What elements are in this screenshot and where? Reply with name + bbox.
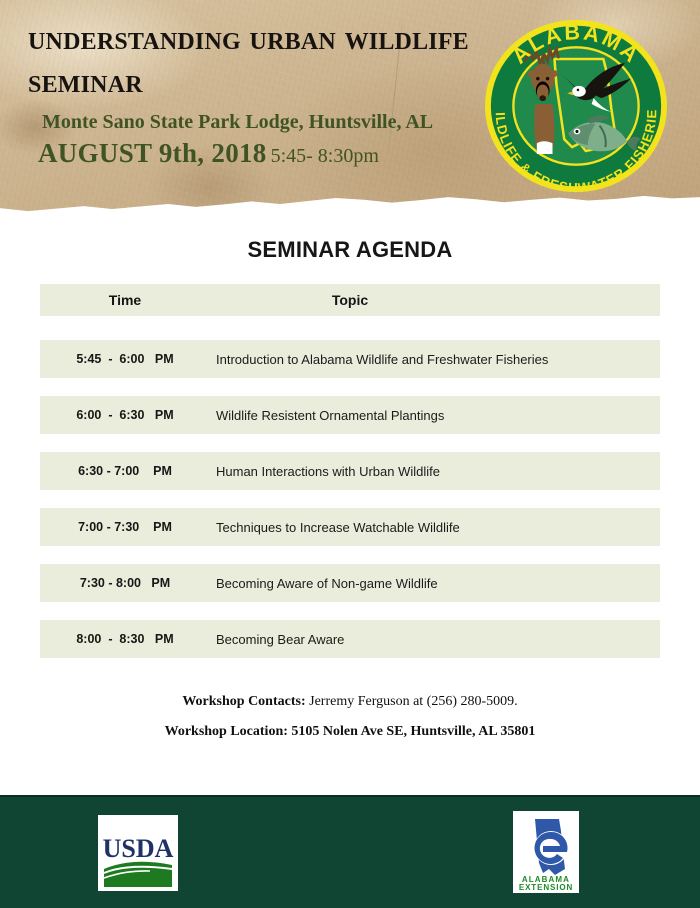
alabama-extension-logo: ALABAMA EXTENSION: [513, 811, 579, 893]
event-date-line: AUGUST 9th, 20185:45- 8:30pm: [38, 138, 498, 169]
row-topic: Techniques to Increase Watchable Wildlif…: [210, 520, 660, 535]
row-time: 8:00 - 8:30 PM: [40, 632, 210, 646]
usda-wordmark: USDA: [103, 834, 174, 863]
row-time: 6:30 - 7:00 PM: [40, 464, 210, 478]
row-topic: Introduction to Alabama Wildlife and Fre…: [210, 352, 660, 367]
venue-subtitle: Monte Sano State Park Lodge, Huntsville,…: [42, 110, 498, 134]
table-row: 7:30 - 8:00 PM Becoming Aware of Non-gam…: [40, 564, 660, 602]
row-time: 7:30 - 8:00 PM: [40, 576, 210, 590]
workshop-contacts-line: Workshop Contacts: Jerremy Ferguson at (…: [0, 694, 700, 710]
table-row: 7:00 - 7:30 PM Techniques to Increase Wa…: [40, 508, 660, 546]
page-title-line2: Seminar: [28, 61, 498, 104]
alabama-wildlife-freshwater-fisheries-seal-icon: ALABAMA WILDLIFE & FRESHWATER FISHERIES: [478, 14, 674, 198]
contact-info-block: Workshop Contacts: Jerremy Ferguson at (…: [0, 694, 700, 754]
column-header-topic: Topic: [210, 292, 660, 308]
row-topic: Becoming Aware of Non-game Wildlife: [210, 576, 660, 591]
alabama-extension-logo-icon: ALABAMA EXTENSION: [513, 811, 579, 893]
row-topic: Human Interactions with Urban Wildlife: [210, 464, 660, 479]
table-header-row: Time Topic: [40, 284, 660, 316]
workshop-location-value: 5105 Nolen Ave SE, Huntsville, AL 35801: [291, 724, 535, 739]
row-time: 5:45 - 6:00 PM: [40, 352, 210, 366]
table-row: 6:00 - 6:30 PM Wildlife Resistent Orname…: [40, 396, 660, 434]
usda-logo: USDA: [98, 815, 178, 891]
event-time-range: 5:45- 8:30pm: [271, 145, 379, 167]
workshop-contacts-value: Jerremy Ferguson at (256) 280-5009.: [309, 694, 518, 709]
header-banner: Understanding Urban Wildlife Seminar Mon…: [0, 0, 700, 216]
table-row: 6:30 - 7:00 PM Human Interactions with U…: [40, 452, 660, 490]
row-topic: Wildlife Resistent Ornamental Plantings: [210, 408, 660, 423]
row-time: 6:00 - 6:30 PM: [40, 408, 210, 422]
row-topic: Becoming Bear Aware: [210, 632, 660, 647]
workshop-contacts-label: Workshop Contacts:: [182, 694, 305, 709]
workshop-location-line: Workshop Location: 5105 Nolen Ave SE, Hu…: [0, 724, 700, 740]
row-time: 7:00 - 7:30 PM: [40, 520, 210, 534]
page-title-line1: Understanding Urban Wildlife: [28, 18, 498, 61]
agenda-table: Time Topic 5:45 - 6:00 PM Introduction t…: [40, 284, 660, 676]
header-text-block: Understanding Urban Wildlife Seminar Mon…: [28, 18, 498, 169]
extension-line2: EXTENSION: [519, 883, 573, 892]
usda-logo-icon: USDA: [98, 815, 178, 891]
event-date: AUGUST 9th, 2018: [38, 138, 267, 168]
footer-band: USDA ALABAMA EXTENSION: [0, 795, 700, 908]
column-header-time: Time: [40, 292, 210, 308]
workshop-location-label: Workshop Location:: [165, 724, 288, 739]
table-row: 8:00 - 8:30 PM Becoming Bear Aware: [40, 620, 660, 658]
agenda-heading: SEMINAR AGENDA: [0, 237, 700, 263]
table-row: 5:45 - 6:00 PM Introduction to Alabama W…: [40, 340, 660, 378]
